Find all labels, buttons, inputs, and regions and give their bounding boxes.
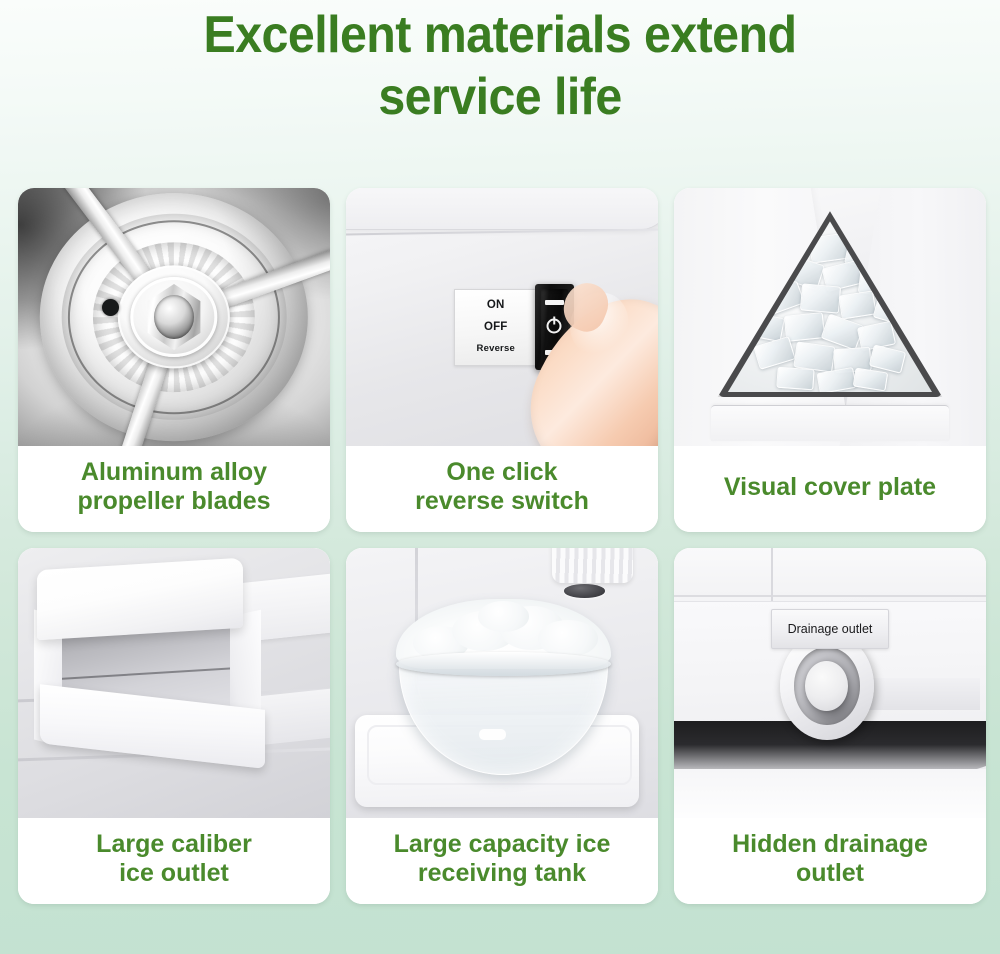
ice-spout (552, 548, 633, 583)
feature-card-grid: Aluminum alloy propeller blades ON OFF R… (18, 188, 982, 904)
caption-line-1: Hidden drainage (732, 830, 928, 858)
switch-label-off: OFF (484, 321, 508, 333)
card-caption: One click reverse switch (346, 446, 658, 532)
propeller-icon (18, 188, 330, 446)
page-title-line-2: service life (35, 66, 965, 128)
card-caption: Visual cover plate (674, 446, 986, 532)
card-caption: Aluminum alloy propeller blades (18, 446, 330, 532)
card-caption: Hidden drainage outlet (674, 818, 986, 904)
caption-line-1: Aluminum alloy (81, 458, 267, 486)
floor-surface (674, 769, 986, 818)
feature-card-one-click-reverse-switch: ON OFF Reverse On (346, 188, 658, 532)
feature-card-hidden-drainage-outlet: Drainage outlet Hidden drainage outlet (674, 548, 986, 904)
drain-icon: Drainage outlet (674, 548, 986, 818)
lower-hatch-panel (711, 405, 948, 441)
caption-line-2: ice outlet (119, 859, 229, 887)
caption-line-2: propeller blades (77, 487, 270, 515)
machine-seam (346, 228, 658, 235)
drainage-outlet-annotation-text: Drainage outlet (788, 623, 873, 636)
machine-lid (346, 188, 658, 229)
feature-card-aluminum-alloy-propeller-blades: Aluminum alloy propeller blades (18, 188, 330, 532)
feature-card-large-caliber-ice-outlet: Large caliber ice outlet (18, 548, 330, 904)
page-title-line-1: Excellent materials extend (204, 6, 797, 64)
ice-receiving-tank-photo (346, 548, 658, 818)
caption-line-1: One click (446, 458, 557, 486)
chute-icon (18, 548, 330, 818)
card-caption: Large capacity ice receiving tank (346, 818, 658, 904)
drainage-port-plug (805, 661, 848, 711)
visual-cover-plate-photo (674, 188, 986, 446)
switch-label-on: ON (487, 299, 505, 311)
power-symbol-icon (547, 319, 562, 334)
bowl-sticker (479, 729, 506, 740)
caption-line-1: Large caliber (96, 830, 252, 858)
product-feature-poster: Excellent materials extend service life (0, 0, 1000, 954)
drainage-outlet-annotation: Drainage outlet (771, 609, 890, 650)
caption-line-1: Visual cover plate (724, 473, 936, 502)
caption-line-2: receiving tank (418, 859, 586, 887)
switch-label-reverse: Reverse (477, 343, 515, 355)
cabinet-foot-ledge (855, 678, 980, 710)
caption-line-2: reverse switch (415, 487, 589, 515)
bowl-rim (396, 652, 611, 676)
rocker-bar-top (545, 300, 564, 305)
caption-line-2: outlet (796, 859, 864, 887)
drainage-outlet-photo: Drainage outlet (674, 548, 986, 818)
cabinet-panel-seam (771, 548, 773, 602)
page-title: Excellent materials extend service life (35, 4, 965, 128)
caption-line-1: Large capacity ice (394, 830, 611, 858)
ice-outlet-photo (18, 548, 330, 818)
switch-icon: ON OFF Reverse (346, 188, 658, 446)
spout-hole (564, 584, 605, 598)
triangle-window-icon (674, 188, 986, 446)
switch-label-plate: ON OFF Reverse (454, 289, 538, 366)
card-caption: Large caliber ice outlet (18, 818, 330, 904)
reverse-switch-photo: ON OFF Reverse (346, 188, 658, 446)
cabinet-top-panel (674, 548, 986, 597)
bowl-icon (346, 548, 658, 818)
propeller-photo (18, 188, 330, 446)
feature-card-large-capacity-ice-receiving-tank: Large capacity ice receiving tank (346, 548, 658, 904)
feature-card-visual-cover-plate: Visual cover plate (674, 188, 986, 532)
chute-top-face (37, 558, 243, 641)
